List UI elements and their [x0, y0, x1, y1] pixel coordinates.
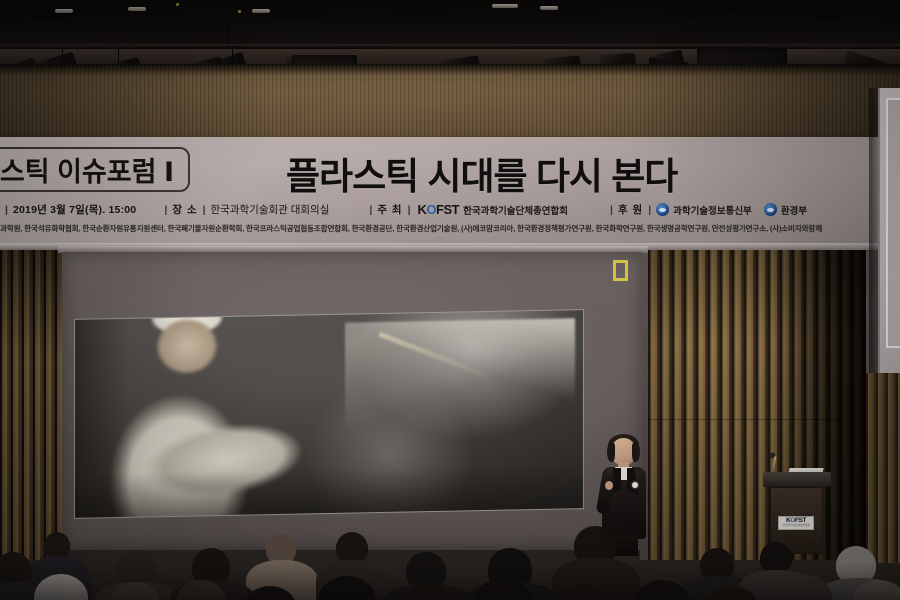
divider-pipe: |	[369, 204, 372, 216]
sponsor-label: 후 원	[618, 202, 643, 217]
event-banner: 플라스틱 이슈포럼 Ⅰ 플라스틱 시대를 다시 본다 | 2019년 3월 7일…	[0, 137, 900, 250]
divider-pipe: |	[648, 204, 651, 216]
banner-info-row: | 2019년 3월 7일(목). 15:00 | 장 소 | 한국과학기술회관…	[0, 199, 900, 220]
wood-wall-seam	[648, 419, 866, 420]
ceiling-light-strip	[128, 7, 146, 11]
projected-video-frame	[74, 309, 584, 519]
ceiling-light-strip	[492, 4, 518, 8]
ceiling-fixture-shadow	[385, 0, 455, 16]
forum-badge-label: 플라스틱 이슈포럼 Ⅰ	[0, 150, 174, 189]
divider-pipe: |	[610, 204, 613, 216]
ceiling-light-strip	[55, 9, 73, 13]
ceiling-light-strip	[252, 9, 270, 13]
divider-pipe: |	[203, 204, 206, 216]
auditorium-photo: 플라스틱 이슈포럼 Ⅰ 플라스틱 시대를 다시 본다 | 2019년 3월 7일…	[0, 0, 900, 600]
banner-main-title: 플라스틱 시대를 다시 본다	[286, 146, 677, 200]
host-label: 주 최	[377, 202, 402, 217]
podium-top-surface	[763, 472, 831, 487]
secondary-screen-surface	[886, 98, 900, 348]
presenter-hair-left	[607, 443, 615, 462]
host-value: 한국과학기술단체총연합회	[463, 203, 568, 217]
presenter-hair-right	[632, 443, 640, 462]
divider-pipe: |	[408, 204, 411, 216]
kofst-logo: KOFST	[418, 202, 460, 217]
divider-pipe: |	[164, 204, 167, 216]
ceiling-indicator-dot	[176, 3, 179, 6]
truss-cable	[232, 46, 233, 62]
government-seal-icon	[656, 203, 669, 216]
event-datetime: 2019년 3월 7일(목). 15:00	[13, 202, 136, 217]
ceiling-fixture-shadow	[790, 0, 860, 18]
ceiling-indicator-dot	[238, 10, 241, 13]
national-geographic-logo-icon	[613, 260, 628, 281]
sponsor-1: 과학기술정보통신부	[673, 203, 752, 217]
truss-cable	[228, 22, 229, 44]
place-value: 한국과학기술회관 대회의실	[211, 202, 330, 217]
audience	[0, 500, 900, 600]
divider-pipe: |	[5, 204, 8, 216]
wall-shadow	[0, 64, 900, 76]
presenter-corsage	[632, 482, 638, 488]
audience-head	[634, 580, 690, 600]
participating-organizations: 과학원, 한국석유화학협회, 한국순환자원유통지원센터, 한국폐기물자원순환학회…	[0, 223, 900, 239]
forum-badge: 플라스틱 이슈포럼 Ⅰ	[0, 147, 190, 192]
presenter-hand	[605, 481, 613, 490]
government-seal-icon	[764, 203, 777, 216]
sponsor-2: 환경부	[781, 203, 807, 217]
banner-title-row: 플라스틱 이슈포럼 Ⅰ 플라스틱 시대를 다시 본다	[0, 141, 900, 197]
place-label: 장 소	[172, 202, 197, 217]
ceiling-light-strip	[540, 6, 558, 10]
truss-cable	[118, 48, 119, 62]
secondary-projection-screen	[878, 88, 900, 373]
ceiling-fixture-shadow	[660, 0, 740, 18]
